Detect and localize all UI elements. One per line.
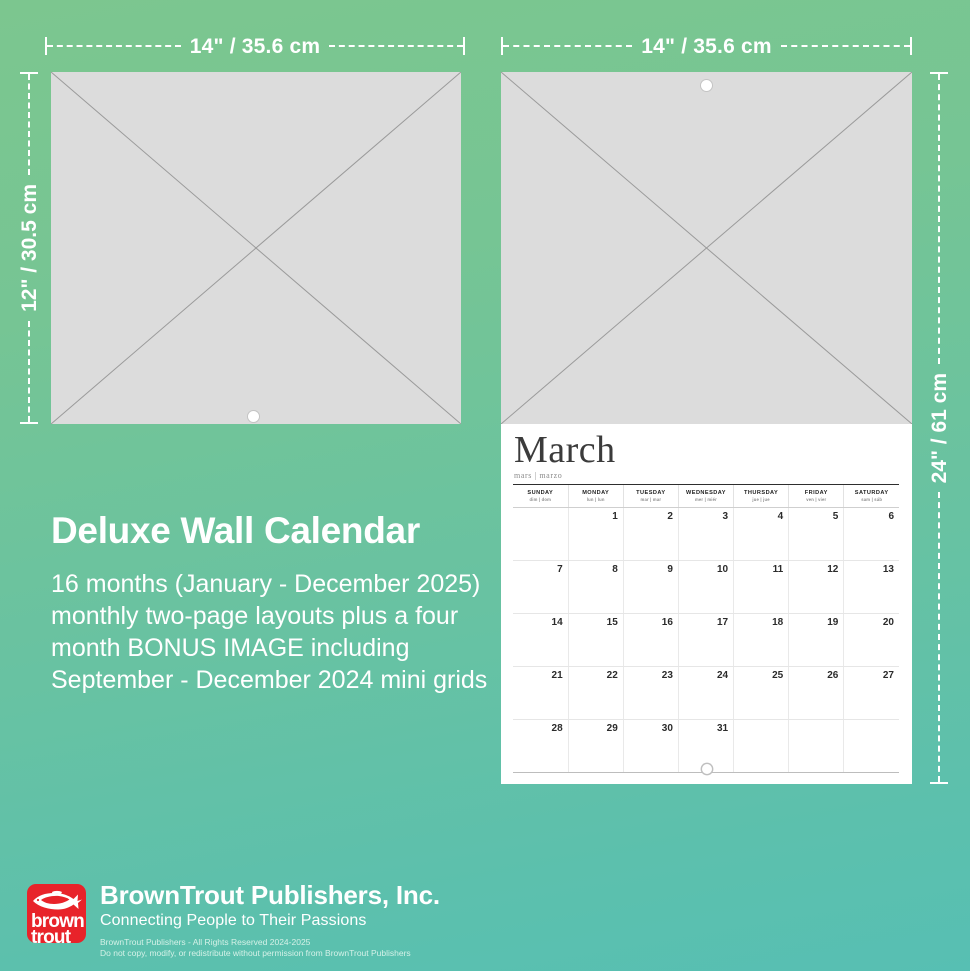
calendar-day-cell[interactable]: 22 <box>568 667 623 720</box>
dimension-label-right-height: 24" / 61 cm <box>929 364 950 492</box>
hole-punch <box>248 411 259 422</box>
weekday-name: MONDAY <box>569 490 623 497</box>
image-placeholder-left <box>51 72 461 424</box>
dimension-top-left-width: 14" / 35.6 cm <box>45 35 465 57</box>
calendar-day-cell[interactable]: 8 <box>568 561 623 614</box>
calendar-weekday-sunday: SUNDAY dim | dom <box>513 485 568 508</box>
dimension-cap-end <box>910 37 912 55</box>
dimension-top-right-width: 14" / 35.6 cm <box>501 35 912 57</box>
calendar-weekday-header-row: SUNDAY dim | dom MONDAY lun | lun TUESDA… <box>513 485 899 508</box>
calendar-week-row: 14 15 16 17 18 19 20 <box>513 614 899 667</box>
calendar-day-cell[interactable] <box>789 720 844 773</box>
hole-punch <box>701 80 712 91</box>
dimension-line-upper <box>28 74 30 175</box>
weekday-translations: ven | vier <box>789 497 843 502</box>
calendar-day-cell[interactable]: 30 <box>623 720 678 773</box>
footer: brown trout BrownTrout Publishers, Inc. … <box>0 880 970 971</box>
calendar-header: March mars | marzo <box>501 424 912 480</box>
calendar-day-cell[interactable]: 25 <box>734 667 789 720</box>
calendar-day-cell[interactable]: 13 <box>844 561 899 614</box>
image-placeholder-right <box>501 72 912 424</box>
calendar-month-title: March <box>514 432 912 469</box>
dimension-line-lower <box>28 321 30 422</box>
hole-punch <box>702 764 712 774</box>
calendar-day-cell[interactable]: 12 <box>789 561 844 614</box>
calendar-day-cell[interactable] <box>734 720 789 773</box>
weekday-translations: mer | miér <box>679 497 733 502</box>
dimension-right-height: 24" / 61 cm <box>928 72 950 784</box>
publisher-tagline: Connecting People to Their Passions <box>100 911 440 930</box>
weekday-name: TUESDAY <box>624 490 678 497</box>
dimension-left-height: 12" / 30.5 cm <box>18 72 40 424</box>
dimension-line-left <box>47 45 181 47</box>
calendar-day-cell[interactable]: 28 <box>513 720 568 773</box>
calendar-week-row: 21 22 23 24 25 26 27 <box>513 667 899 720</box>
dimension-cap-end <box>463 37 465 55</box>
calendar-day-cell[interactable]: 4 <box>734 508 789 561</box>
calendar-day-cell[interactable]: 27 <box>844 667 899 720</box>
dimension-line-lower <box>938 492 940 782</box>
logo-word-trout: trout <box>31 928 70 943</box>
calendar-day-cell[interactable]: 5 <box>789 508 844 561</box>
dimension-cap-bottom <box>20 422 38 424</box>
calendar-day-cell[interactable]: 3 <box>678 508 733 561</box>
usage-restriction-line: Do not copy, modify, or redistribute wit… <box>100 948 440 959</box>
dimension-line-upper <box>938 74 940 364</box>
calendar-day-cell[interactable]: 10 <box>678 561 733 614</box>
dimension-cap-bottom <box>930 782 948 784</box>
calendar-day-cell[interactable]: 15 <box>568 614 623 667</box>
calendar-weekday-thursday: THURSDAY jue | jue <box>734 485 789 508</box>
product-description: 16 months (January - December 2025) mont… <box>51 568 503 696</box>
calendar-weekday-wednesday: WEDNESDAY mer | miér <box>678 485 733 508</box>
calendar-weekday-friday: FRIDAY ven | vier <box>789 485 844 508</box>
calendar-weekday-saturday: SATURDAY sam | sáb <box>844 485 899 508</box>
calendar-weekday-monday: MONDAY lun | lun <box>568 485 623 508</box>
calendar-week-row: 1 2 3 4 5 6 <box>513 508 899 561</box>
calendar-day-cell[interactable]: 1 <box>568 508 623 561</box>
calendar-day-cell[interactable]: 11 <box>734 561 789 614</box>
copyright-line: BrownTrout Publishers - All Rights Reser… <box>100 937 440 948</box>
placeholder-cross-icon <box>501 72 912 424</box>
dimension-line-left <box>503 45 632 47</box>
footer-text-block: BrownTrout Publishers, Inc. Connecting P… <box>100 881 440 960</box>
weekday-name: SATURDAY <box>844 490 899 497</box>
calendar-day-cell[interactable]: 14 <box>513 614 568 667</box>
calendar-grid-page: March mars | marzo SUNDAY dim | dom MOND… <box>501 424 912 784</box>
calendar-table: SUNDAY dim | dom MONDAY lun | lun TUESDA… <box>513 484 899 773</box>
calendar-day-cell[interactable]: 2 <box>623 508 678 561</box>
dimension-label-top-left: 14" / 35.6 cm <box>181 36 329 57</box>
calendar-day-cell[interactable]: 21 <box>513 667 568 720</box>
browntrout-logo: brown trout <box>27 884 86 943</box>
calendar-day-cell[interactable]: 26 <box>789 667 844 720</box>
calendar-day-cell[interactable]: 17 <box>678 614 733 667</box>
weekday-name: THURSDAY <box>734 490 788 497</box>
weekday-name: SUNDAY <box>513 490 568 497</box>
trout-fish-icon <box>30 889 83 913</box>
calendar-day-cell[interactable]: 20 <box>844 614 899 667</box>
calendar-day-cell[interactable]: 6 <box>844 508 899 561</box>
calendar-day-cell[interactable] <box>513 508 568 561</box>
weekday-name: FRIDAY <box>789 490 843 497</box>
calendar-day-cell[interactable]: 23 <box>623 667 678 720</box>
weekday-translations: lun | lun <box>569 497 623 502</box>
calendar-day-cell[interactable]: 29 <box>568 720 623 773</box>
dimension-label-left-height: 12" / 30.5 cm <box>19 175 40 321</box>
page-title: Deluxe Wall Calendar <box>51 512 420 549</box>
weekday-translations: dim | dom <box>513 497 568 502</box>
calendar-day-cell[interactable]: 19 <box>789 614 844 667</box>
calendar-day-cell[interactable]: 9 <box>623 561 678 614</box>
calendar-month-translations: mars | marzo <box>514 471 912 480</box>
calendar-day-cell[interactable] <box>844 720 899 773</box>
calendar-day-cell[interactable]: 18 <box>734 614 789 667</box>
legal-block: BrownTrout Publishers - All Rights Reser… <box>100 937 440 960</box>
weekday-translations: mar | mar <box>624 497 678 502</box>
publisher-name: BrownTrout Publishers, Inc. <box>100 881 440 910</box>
weekday-translations: sam | sáb <box>844 497 899 502</box>
placeholder-cross-icon <box>51 72 461 424</box>
calendar-week-row: 7 8 9 10 11 12 13 <box>513 561 899 614</box>
dimension-line-right <box>329 45 463 47</box>
product-infographic: 14" / 35.6 cm 14" / 35.6 cm 12" / 30.5 c… <box>0 0 970 971</box>
calendar-day-cell[interactable]: 24 <box>678 667 733 720</box>
calendar-day-cell[interactable]: 7 <box>513 561 568 614</box>
calendar-day-cell[interactable]: 16 <box>623 614 678 667</box>
weekday-name: WEDNESDAY <box>679 490 733 497</box>
weekday-translations: jue | jue <box>734 497 788 502</box>
calendar-weekday-tuesday: TUESDAY mar | mar <box>623 485 678 508</box>
dimension-line-right <box>781 45 910 47</box>
dimension-label-top-right: 14" / 35.6 cm <box>632 36 780 57</box>
